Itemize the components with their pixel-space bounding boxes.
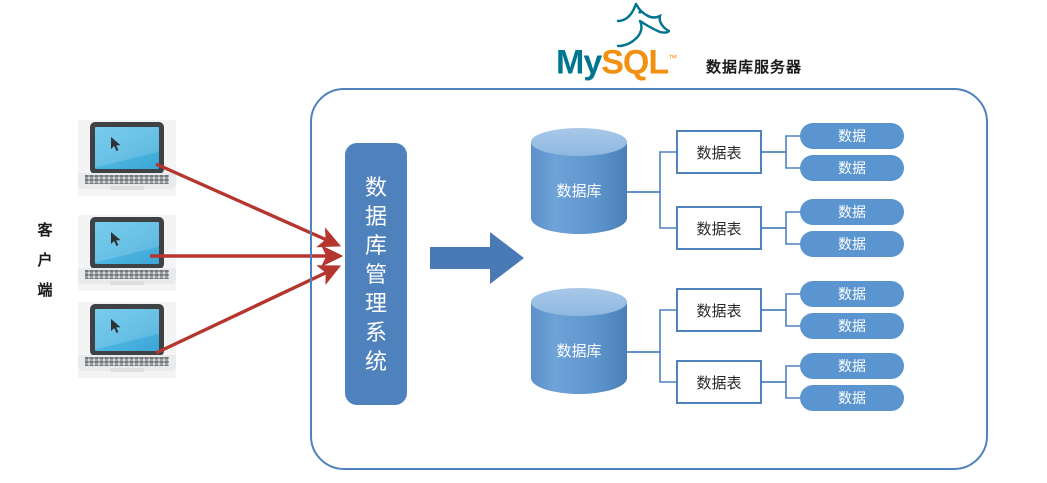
record-label: 数据 — [838, 202, 866, 222]
record-1-2-2[interactable]: 数据 — [800, 231, 904, 257]
cylinder-top — [531, 128, 627, 156]
flow-arrow — [430, 230, 525, 286]
mysql-word-my: My — [556, 43, 601, 81]
mysql-wordmark: MySQL™ — [556, 40, 696, 76]
mysql-word-sql: SQL — [601, 43, 668, 81]
record-label: 数据 — [838, 234, 866, 254]
client-label-char-3: 端 — [30, 276, 60, 306]
dbms-label: 数据库管理系统 — [363, 173, 389, 376]
client-label-char-1: 客 — [30, 216, 60, 246]
client-label: 客 户 端 — [30, 216, 60, 306]
table-label: 数据表 — [696, 218, 741, 239]
record-1-2-1[interactable]: 数据 — [800, 199, 904, 225]
table-2-1[interactable]: 数据表 — [676, 288, 762, 332]
table-label: 数据表 — [696, 372, 741, 393]
table-2-2[interactable]: 数据表 — [676, 360, 762, 404]
server-title: 数据库服务器 — [706, 56, 802, 77]
mysql-logo: MySQL™ — [556, 2, 696, 80]
laptop-trackpad — [110, 281, 144, 285]
record-2-2-2[interactable]: 数据 — [800, 385, 904, 411]
record-2-1-1[interactable]: 数据 — [800, 281, 904, 307]
table-label: 数据表 — [696, 300, 741, 321]
record-label: 数据 — [838, 126, 866, 146]
cylinder-top — [531, 288, 627, 316]
record-label: 数据 — [838, 284, 866, 304]
record-label: 数据 — [838, 158, 866, 178]
record-label: 数据 — [838, 356, 866, 376]
dbms-box[interactable]: 数据库管理系统 — [345, 143, 407, 405]
record-label: 数据 — [838, 388, 866, 408]
database-2[interactable]: 数据库 — [531, 288, 627, 408]
record-1-1-1[interactable]: 数据 — [800, 123, 904, 149]
laptop-trackpad — [110, 186, 144, 190]
table-1-2[interactable]: 数据表 — [676, 206, 762, 250]
record-2-2-1[interactable]: 数据 — [800, 353, 904, 379]
table-label: 数据表 — [696, 142, 741, 163]
record-2-1-2[interactable]: 数据 — [800, 313, 904, 339]
record-label: 数据 — [838, 316, 866, 336]
client-label-char-2: 户 — [30, 246, 60, 276]
database-1[interactable]: 数据库 — [531, 128, 627, 248]
database-label: 数据库 — [531, 180, 627, 201]
table-1-1[interactable]: 数据表 — [676, 130, 762, 174]
laptop-trackpad — [110, 368, 144, 372]
record-1-1-2[interactable]: 数据 — [800, 155, 904, 181]
trademark-symbol: ™ — [668, 53, 676, 63]
database-label: 数据库 — [531, 340, 627, 361]
diagram-canvas: MySQL™ 数据库服务器 客 户 端 — [0, 0, 1047, 483]
